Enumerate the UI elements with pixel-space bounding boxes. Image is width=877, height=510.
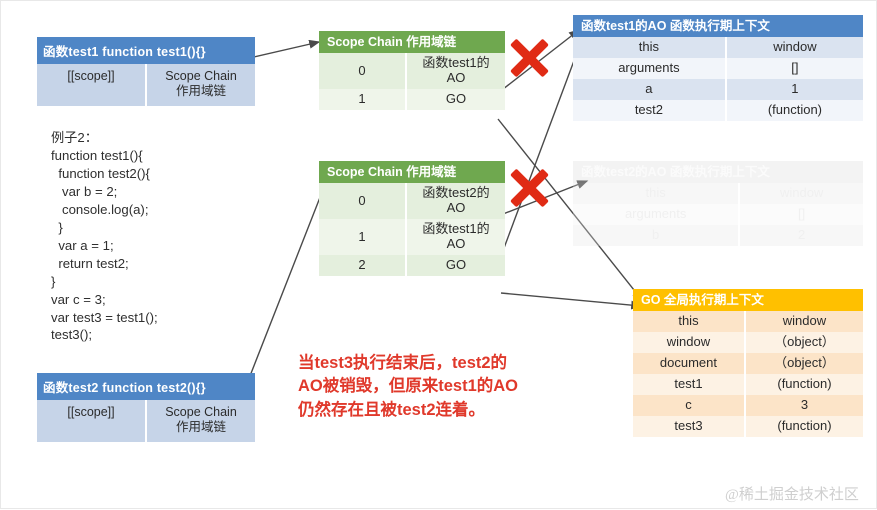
function-box-test2: 函数test2 function test2(){} [[scope]] Sco… <box>37 373 255 442</box>
watermark: @稀土掘金技术社区 <box>725 483 859 504</box>
context-go-value-0: window <box>745 311 863 332</box>
example-code-block: 例子2： function test1(){ function test2(){… <box>51 129 158 344</box>
table-row: this window <box>633 311 863 332</box>
function-box-test1-body: [[scope]] Scope Chain 作用域链 <box>37 64 255 106</box>
context-go-value-1: （object） <box>745 332 863 353</box>
table-row: this window <box>573 37 863 58</box>
context-ao-test1-header: 函数test1的AO 函数执行期上下文 <box>573 15 863 37</box>
explanation-note: 当test3执行结束后，test2的 AO被销毁，但原来test1的AO 仍然存… <box>298 352 558 422</box>
table-row: arguments [] <box>573 58 863 79</box>
context-ao-test2-header: 函数test2的AO 函数执行期上下文 <box>573 161 863 183</box>
function-box-test1-scope-label: [[scope]] <box>37 64 147 106</box>
function-box-test1: 函数test1 function test1(){} [[scope]] Sco… <box>37 37 255 106</box>
function-box-test2-scope-label: [[scope]] <box>37 400 147 442</box>
context-go-key-5: test3 <box>633 416 745 437</box>
context-ao-test1-key-3: test2 <box>573 100 726 121</box>
context-ao-test2-key-0: this <box>573 183 739 204</box>
function-box-test2-body: [[scope]] Scope Chain 作用域链 <box>37 400 255 442</box>
context-go-header: GO 全局执行期上下文 <box>633 289 863 311</box>
context-ao-test1-key-1: arguments <box>573 58 726 79</box>
context-ao-test2-value-1: [] <box>739 204 863 225</box>
function-box-test1-scopechain-label: Scope Chain 作用域链 <box>147 64 255 106</box>
context-go-key-3: test1 <box>633 374 745 395</box>
context-go-key-1: window <box>633 332 745 353</box>
scope-chain-test2-value-1: 函数test1的 AO <box>406 219 505 255</box>
context-ao-test1-key-0: this <box>573 37 726 58</box>
table-row: test1 (function) <box>633 374 863 395</box>
context-ao-test2-key-2: b <box>573 225 739 246</box>
context-go-key-4: c <box>633 395 745 416</box>
context-go-value-4: 3 <box>745 395 863 416</box>
function-box-test2-title: 函数test2 function test2(){} <box>37 373 255 400</box>
context-go-value-5: (function) <box>745 416 863 437</box>
table-row: document （object） <box>633 353 863 374</box>
context-go-key-0: this <box>633 311 745 332</box>
context-ao-test1-value-2: 1 <box>726 79 863 100</box>
table-row: 1 GO <box>319 89 505 110</box>
scope-chain-test1-index-0: 0 <box>319 53 406 89</box>
table-row: a 1 <box>573 79 863 100</box>
context-table-go-global: GO 全局执行期上下文 this window window （object） … <box>633 289 863 437</box>
table-row: 1 函数test1的 AO <box>319 219 505 255</box>
table-row: 0 函数test1的 AO <box>319 53 505 89</box>
table-row: test3 (function) <box>633 416 863 437</box>
context-ao-test1-key-2: a <box>573 79 726 100</box>
context-go-key-2: document <box>633 353 745 374</box>
table-row: 0 函数test2的 AO <box>319 183 505 219</box>
function-box-test2-scopechain-label: Scope Chain 作用域链 <box>147 400 255 442</box>
scope-chain-test2-index-1: 1 <box>319 219 406 255</box>
scope-chain-test2-header: Scope Chain 作用域链 <box>319 161 505 183</box>
context-table-ao-test2-destroyed: 函数test2的AO 函数执行期上下文 this window argument… <box>573 161 863 246</box>
scope-chain-table-test1: Scope Chain 作用域链 0 函数test1的 AO 1 GO <box>319 31 505 110</box>
context-ao-test2-value-0: window <box>739 183 863 204</box>
scope-chain-test2-value-2: GO <box>406 255 505 276</box>
context-table-ao-test1: 函数test1的AO 函数执行期上下文 this window argument… <box>573 15 863 121</box>
scope-chain-test1-value-0: 函数test1的 AO <box>406 53 505 89</box>
table-row: arguments [] <box>573 204 863 225</box>
x-mark-broken-link-2 <box>501 159 557 215</box>
table-row: c 3 <box>633 395 863 416</box>
scope-chain-test2-index-0: 0 <box>319 183 406 219</box>
scope-chain-test1-value-1: GO <box>406 89 505 110</box>
diagram-canvas: 函数test1 function test1(){} [[scope]] Sco… <box>0 0 877 509</box>
context-ao-test1-value-3: (function) <box>726 100 863 121</box>
table-row: this window <box>573 183 863 204</box>
table-row: b 2 <box>573 225 863 246</box>
context-ao-test1-value-0: window <box>726 37 863 58</box>
table-row: 2 GO <box>319 255 505 276</box>
context-ao-test2-value-2: 2 <box>739 225 863 246</box>
context-go-value-2: （object） <box>745 353 863 374</box>
context-ao-test1-value-1: [] <box>726 58 863 79</box>
scope-chain-test2-value-0: 函数test2的 AO <box>406 183 505 219</box>
scope-chain-table-test2: Scope Chain 作用域链 0 函数test2的 AO 1 函数test1… <box>319 161 505 276</box>
scope-chain-test2-index-2: 2 <box>319 255 406 276</box>
scope-chain-test1-index-1: 1 <box>319 89 406 110</box>
table-row: window （object） <box>633 332 863 353</box>
function-box-test1-title: 函数test1 function test1(){} <box>37 37 255 64</box>
x-mark-broken-link-1 <box>501 29 557 85</box>
context-ao-test2-key-1: arguments <box>573 204 739 225</box>
scope-chain-test1-header: Scope Chain 作用域链 <box>319 31 505 53</box>
context-go-value-3: (function) <box>745 374 863 395</box>
table-row: test2 (function) <box>573 100 863 121</box>
